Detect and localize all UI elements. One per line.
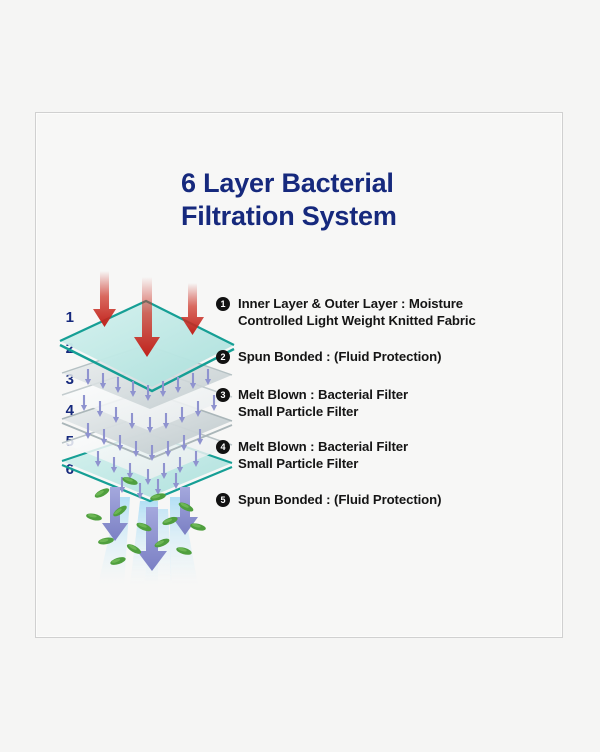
list-text-5-line-1: Spun Bonded : (Fluid Protection) [238, 492, 441, 507]
list-text-3-line-2: Small Particle Filter [238, 403, 556, 420]
list-item: 1 Inner Layer & Outer Layer : Moisture C… [216, 295, 556, 329]
list-text-3-line-1: Melt Blown : Bacterial Filter [238, 387, 408, 402]
title-line-1: 6 Layer Bacterial [181, 167, 521, 200]
list-marker-4: 4 [216, 440, 230, 454]
list-text-1: Inner Layer & Outer Layer : Moisture Con… [238, 295, 556, 329]
list-item: 4 Melt Blown : Bacterial Filter Small Pa… [216, 438, 556, 472]
list-text-4-line-1: Melt Blown : Bacterial Filter [238, 439, 408, 454]
infographic-card: 6 Layer Bacterial Filtration System 1 2 … [35, 112, 563, 638]
list-text-2: Spun Bonded : (Fluid Protection) [238, 348, 556, 365]
list-text-1-line-2: Controlled Light Weight Knitted Fabric [238, 312, 556, 329]
list-item: 5 Spun Bonded : (Fluid Protection) [216, 491, 556, 508]
list-marker-3: 3 [216, 388, 230, 402]
list-item: 3 Melt Blown : Bacterial Filter Small Pa… [216, 386, 556, 420]
list-text-1-line-1: Inner Layer & Outer Layer : Moisture [238, 296, 463, 311]
list-item: 2 Spun Bonded : (Fluid Protection) [216, 348, 556, 365]
page-title: 6 Layer Bacterial Filtration System [181, 167, 521, 234]
list-text-3: Melt Blown : Bacterial Filter Small Part… [238, 386, 556, 420]
list-marker-5: 5 [216, 493, 230, 507]
list-text-4: Melt Blown : Bacterial Filter Small Part… [238, 438, 556, 472]
list-text-2-line-1: Spun Bonded : (Fluid Protection) [238, 349, 441, 364]
list-marker-2: 2 [216, 350, 230, 364]
list-text-4-line-2: Small Particle Filter [238, 455, 556, 472]
list-text-5: Spun Bonded : (Fluid Protection) [238, 491, 556, 508]
title-line-2: Filtration System [181, 200, 521, 233]
fabric-layers-illustration [58, 265, 236, 585]
list-marker-1: 1 [216, 297, 230, 311]
screenshot-root: 6 Layer Bacterial Filtration System 1 2 … [0, 0, 600, 752]
